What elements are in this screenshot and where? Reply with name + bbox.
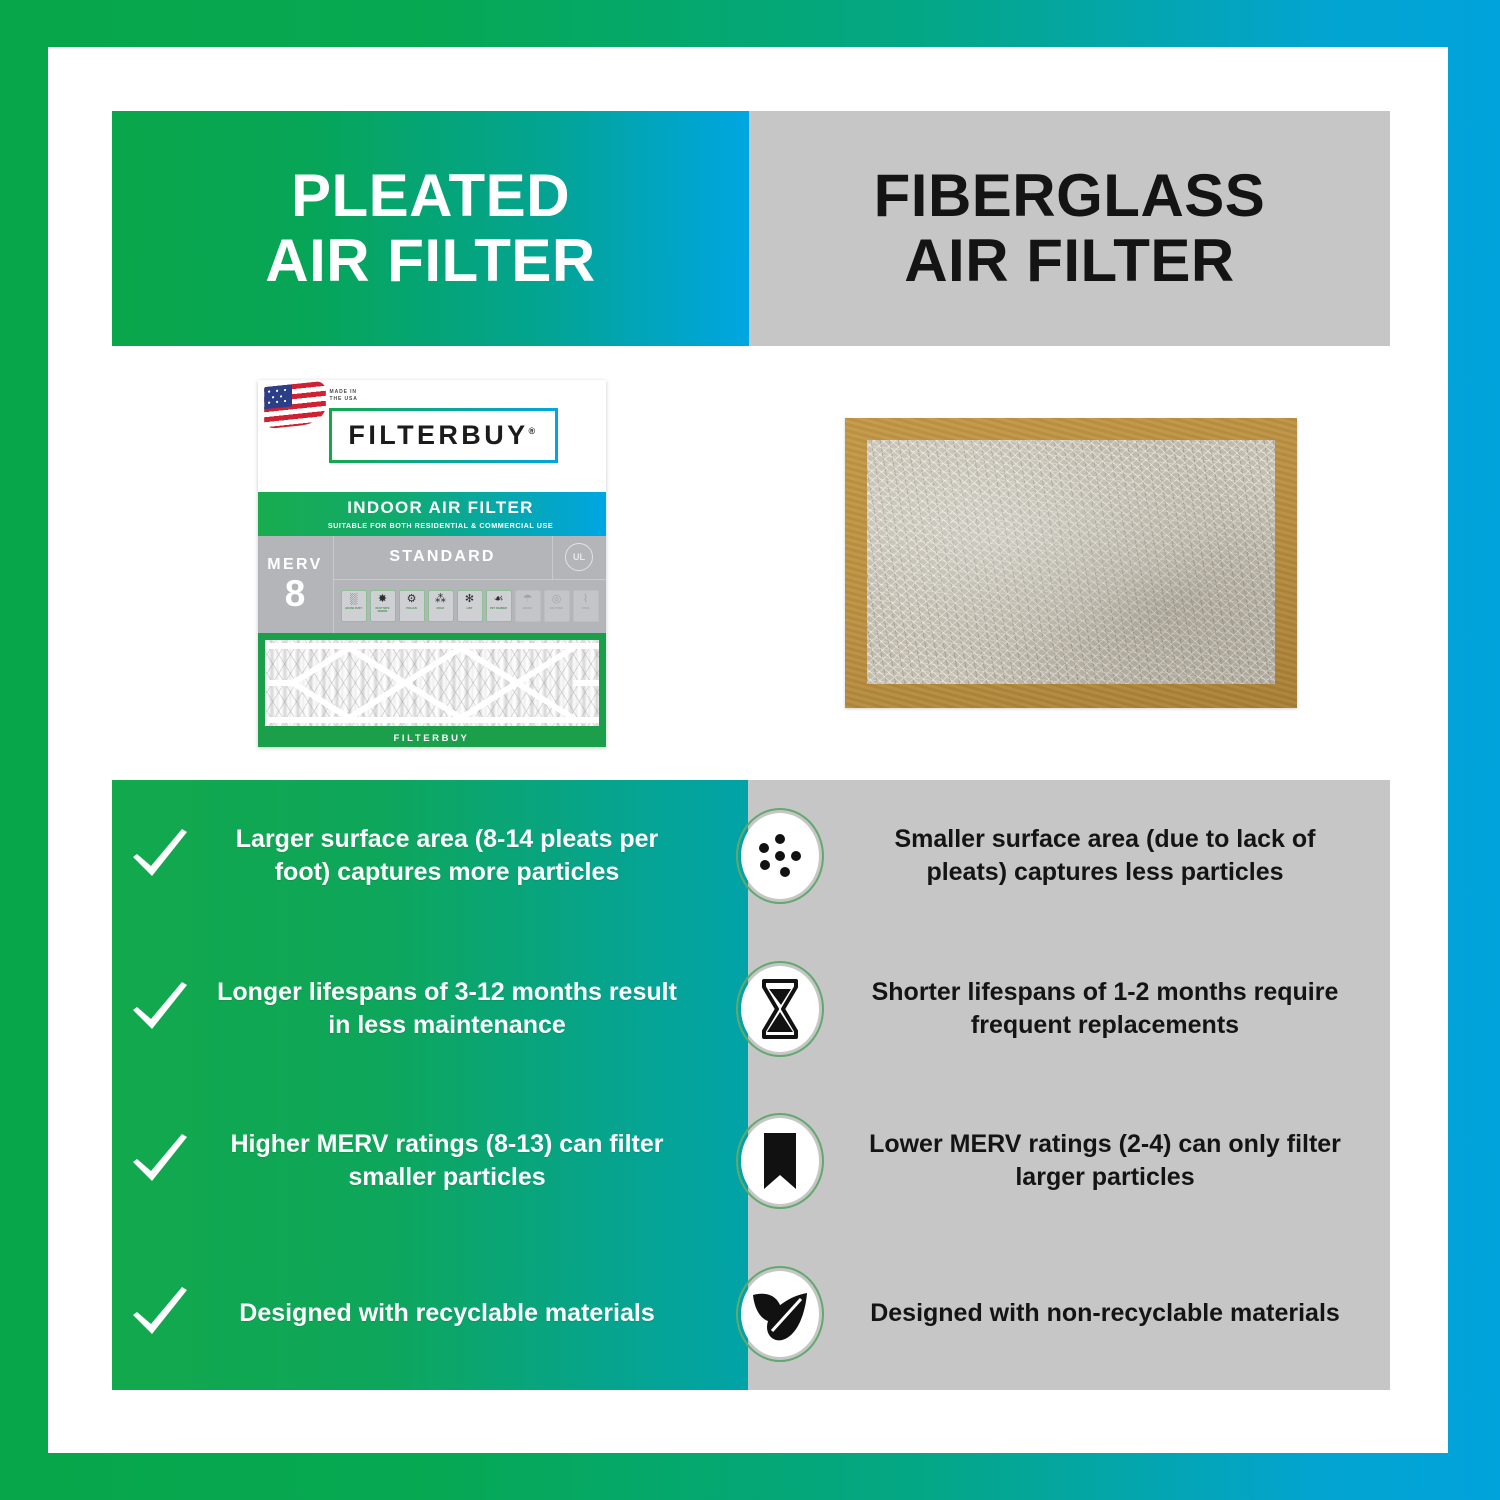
capture-icon-7: ◎BACTERIA [544,590,570,622]
fiberglass-product-cell [751,346,1390,780]
row-text-fiberglass-3: Designed with non-recyclable materials [832,1297,1390,1330]
capture-icon-6: ☂SMOKE [515,590,541,622]
usa-flag-icon [264,380,326,429]
capture-icon-1: ✸DUST MITE DEBRIS [370,590,396,622]
pleated-product-cell: MADE IN THE USA FILTERBUY® INDOOR AIR FI… [112,346,751,780]
capture-icon-5: ☙PET DANDER [486,590,512,622]
merv-value: 8 [285,576,306,611]
icon-slot-3 [728,1266,832,1362]
comparison-panel: Larger surface area (8-14 pleats per foo… [112,780,1390,1390]
comparison-rows: Larger surface area (8-14 pleats per foo… [112,780,1390,1390]
capture-caption-6: SMOKE [523,608,533,611]
spec-right-column: STANDARD UL ░HOUSE DUST ✸DUST MITE DEBRI… [334,536,606,633]
made-in-usa-label: MADE IN THE USA [330,389,358,404]
row-text-fiberglass-0: Smaller surface area (due to lack of ple… [832,823,1390,889]
checkmark-slot-2 [112,1133,208,1189]
pleated-media-window: FILTERBUY [258,633,606,747]
brand-logo-box: FILTERBUY® [329,408,557,463]
box-spec-area: MERV 8 STANDARD UL ░HOUSE DUST [258,536,606,633]
lint-icon: ✻ [465,594,474,605]
comparison-row-recyclable: Designed with recyclable materials [112,1238,1390,1391]
merv-cell: MERV 8 [258,536,334,633]
grade-label: STANDARD [334,536,552,579]
box-banner-subtitle: SUITABLE FOR BOTH RESIDENTIAL & COMMERCI… [328,521,553,530]
filter-media-brand: FILTERBUY [258,733,606,744]
capture-caption-8: VIRUS [582,608,590,611]
capture-icon-0: ░HOUSE DUST [341,590,367,622]
capture-caption-7: BACTERIA [550,608,563,611]
pollen-icon: ⚙ [407,594,417,605]
box-banner: INDOOR AIR FILTER SUITABLE FOR BOTH RESI… [258,492,606,536]
comparison-row-lifespan: Longer lifespans of 3-12 months result i… [112,933,1390,1086]
capture-caption-1: DUST MITE DEBRIS [371,608,395,614]
bacteria-icon: ◎ [552,594,562,605]
virus-icon: ⌇ [583,594,588,605]
leaf-badge [736,1266,824,1362]
icon-slot-1 [728,961,832,1057]
hourglass-badge [736,961,824,1057]
checkmark-slot-1 [112,981,208,1037]
dust-mite-icon: ✸ [378,594,387,605]
capture-caption-4: LINT [467,608,473,611]
particles-badge [736,808,824,904]
fiberglass-mesh-texture [867,440,1275,684]
leaf-icon [749,1285,811,1343]
comparison-row-surface-area: Larger surface area (8-14 pleats per foo… [112,780,1390,933]
capture-caption-2: POLLEN [406,608,417,611]
check-icon [129,981,191,1037]
pet-dander-icon: ☙ [494,594,504,605]
hourglass-icon [757,978,803,1040]
header-band: PLEATED AIR FILTER FIBERGLASS AIR FILTER [112,111,1390,346]
brand-name-text: FILTERBUY® [348,420,538,451]
filterbuy-box-artwork: MADE IN THE USA FILTERBUY® INDOOR AIR FI… [258,380,606,747]
diamond-support-overlay [265,640,599,726]
capture-icon-2: ⚙POLLEN [399,590,425,622]
fiberglass-filter-photo [845,418,1297,708]
bookmark-icon [760,1131,800,1191]
infographic-card: PLEATED AIR FILTER FIBERGLASS AIR FILTER… [48,47,1448,1453]
row-text-pleated-1: Longer lifespans of 3-12 months result i… [208,976,728,1042]
row-text-pleated-0: Larger surface area (8-14 pleats per foo… [208,823,728,889]
row-text-fiberglass-1: Shorter lifespans of 1-2 months require … [832,976,1390,1042]
checkmark-slot-0 [112,828,208,884]
pleated-media-texture [265,640,599,726]
bookmark-badge [736,1113,824,1209]
grade-row: STANDARD UL [334,536,606,580]
check-icon [129,1133,191,1189]
mold-icon: ⁂ [435,594,446,605]
box-banner-title: INDOOR AIR FILTER [347,498,533,518]
brand-trademark: ® [529,426,539,436]
product-image-row: MADE IN THE USA FILTERBUY® INDOOR AIR FI… [112,346,1390,780]
outer-gradient-frame: PLEATED AIR FILTER FIBERGLASS AIR FILTER… [0,0,1500,1500]
header-fiberglass-title: FIBERGLASS AIR FILTER [874,164,1266,294]
check-icon [129,1286,191,1342]
check-icon [129,828,191,884]
icon-slot-0 [728,808,832,904]
capture-caption-5: PET DANDER [490,608,507,611]
ul-certification-icon: UL [565,543,593,571]
row-text-pleated-3: Designed with recyclable materials [208,1297,728,1330]
capture-icon-4: ✻LINT [457,590,483,622]
brand-word: FILTERBUY [348,420,528,450]
header-pleated: PLEATED AIR FILTER [112,111,749,346]
capture-icon-3: ⁂MOLD [428,590,454,622]
capture-caption-0: HOUSE DUST [345,608,362,611]
house-dust-icon: ░ [350,594,358,605]
capture-icon-8: ⌇VIRUS [573,590,599,622]
header-pleated-title: PLEATED AIR FILTER [265,164,596,294]
smoke-icon: ☂ [523,594,533,605]
comparison-row-merv: Higher MERV ratings (8-13) can filter sm… [112,1085,1390,1238]
ul-cell: UL [552,536,606,579]
header-fiberglass: FIBERGLASS AIR FILTER [749,111,1390,346]
capture-icon-row: ░HOUSE DUST ✸DUST MITE DEBRIS ⚙POLLEN ⁂M… [334,580,606,633]
box-header-area: MADE IN THE USA FILTERBUY® [258,380,606,492]
merv-label: MERV [267,556,323,574]
particles-icon [749,825,811,887]
row-text-pleated-2: Higher MERV ratings (8-13) can filter sm… [208,1128,728,1194]
capture-caption-3: MOLD [437,608,445,611]
checkmark-slot-3 [112,1286,208,1342]
row-text-fiberglass-2: Lower MERV ratings (2-4) can only filter… [832,1128,1390,1194]
icon-slot-2 [728,1113,832,1209]
